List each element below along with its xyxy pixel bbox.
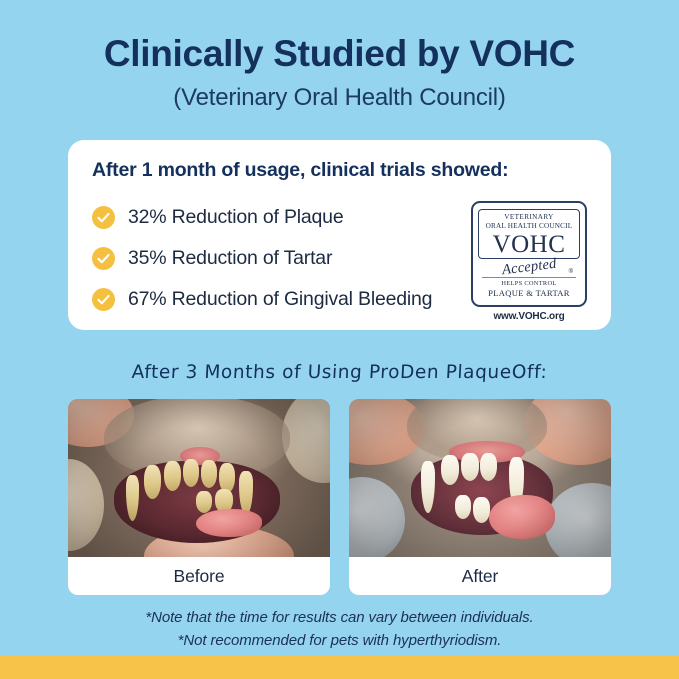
seal-divider <box>482 277 576 278</box>
seal-line-veterinary: VETERINARY <box>481 213 577 222</box>
seal-accepted-row: Accepted ® <box>478 258 580 275</box>
photo-card-before: Before <box>68 399 330 595</box>
photo-label-before: Before <box>68 557 330 595</box>
footnotes: *Note that the time for results can vary… <box>0 607 679 652</box>
photo-label-after: After <box>349 557 611 595</box>
list-item: 67% Reduction of Gingival Bleeding <box>92 279 471 320</box>
results-body: 32% Reduction of Plaque 35% Reduction of… <box>92 195 589 322</box>
check-circle-icon <box>92 247 115 270</box>
photo-illustration <box>349 399 611 557</box>
bullet-label: 35% Reduction of Tartar <box>128 247 332 270</box>
results-bullet-list: 32% Reduction of Plaque 35% Reduction of… <box>92 195 471 320</box>
dog-teeth-before-photo <box>68 399 330 557</box>
list-item: 32% Reduction of Plaque <box>92 197 471 238</box>
list-item: 35% Reduction of Tartar <box>92 238 471 279</box>
results-heading: After 1 month of usage, clinical trials … <box>92 159 589 182</box>
seal-outer-border: VETERINARY ORAL HEALTH COUNCIL VOHC Acce… <box>471 201 587 307</box>
photo-card-after: After <box>349 399 611 595</box>
registered-trademark-icon: ® <box>569 269 573 275</box>
check-circle-icon <box>92 288 115 311</box>
footnote-line-1: *Note that the time for results can vary… <box>0 607 679 630</box>
seal-inner-border: VETERINARY ORAL HEALTH COUNCIL VOHC <box>478 209 580 259</box>
vohc-seal-logo: VETERINARY ORAL HEALTH COUNCIL VOHC Acce… <box>471 201 587 322</box>
page-title: Clinically Studied by VOHC <box>0 34 679 75</box>
seal-line-council: ORAL HEALTH COUNCIL <box>481 222 577 231</box>
comparison-caption: After 3 Months of Using ProDen PlaqueOff… <box>0 362 679 383</box>
seal-helps-control: HELPS CONTROL <box>478 280 580 288</box>
header: Clinically Studied by VOHC (Veterinary O… <box>0 0 679 112</box>
check-circle-icon <box>92 206 115 229</box>
seal-plaque-tartar: PLAQUE & TARTAR <box>478 288 580 299</box>
bullet-label: 32% Reduction of Plaque <box>128 206 343 229</box>
before-after-photo-group: Before <box>68 399 611 595</box>
bottom-accent-bar <box>0 655 679 679</box>
infographic-page: Clinically Studied by VOHC (Veterinary O… <box>0 0 679 679</box>
page-subtitle: (Veterinary Oral Health Council) <box>0 84 679 112</box>
seal-accepted-script: Accepted <box>501 256 557 280</box>
footnote-line-2: *Not recommended for pets with hyperthyr… <box>0 630 679 653</box>
bullet-label: 67% Reduction of Gingival Bleeding <box>128 288 432 311</box>
clinical-results-card: After 1 month of usage, clinical trials … <box>68 140 611 330</box>
dog-teeth-after-photo <box>349 399 611 557</box>
photo-illustration <box>68 399 330 557</box>
seal-website-url: www.VOHC.org <box>471 311 587 322</box>
seal-acronym: VOHC <box>481 232 577 257</box>
